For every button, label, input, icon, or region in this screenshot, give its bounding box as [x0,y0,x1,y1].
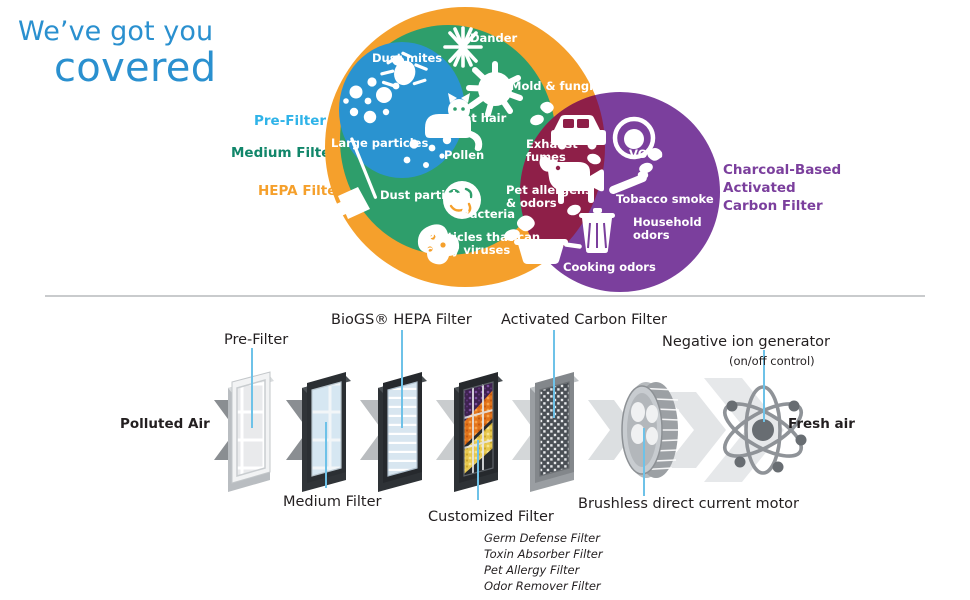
flow-output-label: Fresh air [788,416,855,432]
venn-diagram: Dust mites Large particles Dander Pet ha… [318,0,738,295]
infographic-root: We’ve got you covered Pre-Filter Medium … [0,0,970,600]
venn-label-dander: Dander [470,31,518,45]
flow-label-medium-filter: Medium Filter [283,494,382,510]
blower-wheel-icon [622,382,679,478]
legend-charcoal-filter: Charcoal-Based Activated Carbon Filter [723,162,873,215]
venn-label-tobacco-smoke: Tobacco smoke [616,192,714,206]
customized-option-odor-remover: Odor Remover Filter [484,579,601,593]
charcoal-line-3: Carbon Filter [723,198,873,216]
venn-label-viruses-2: carry viruses [426,243,510,257]
venn-label-vocs: VOCs [629,147,663,161]
venn-label-pet-allergens-1: Pet allergens [506,183,592,197]
charcoal-line-2: Activated [723,180,873,198]
venn-label-pet-hair: Pet hair [455,111,507,125]
flow-label-motor: Brushless direct current motor [578,496,799,512]
venn-label-exhaust-1: Exhaust [526,137,578,151]
customized-option-toxin-absorber: Toxin Absorber Filter [484,547,603,561]
customized-option-pet-allergy: Pet Allergy Filter [484,563,579,577]
legend-pre-filter: Pre-Filter [254,113,326,129]
flow-label-hepa-filter: BioGS® HEPA Filter [331,312,472,328]
flow-label-pre-filter: Pre-Filter [224,332,288,348]
venn-label-mold-fungi: Mold & fungi [510,79,593,93]
venn-label-dust-mites: Dust mites [372,51,442,65]
page-title: We’ve got you covered [18,18,216,88]
venn-label-household-1: Household [633,215,702,229]
section-divider [45,295,925,297]
venn-label-household-2: odors [633,228,670,242]
airflow-arrows [214,378,784,482]
flow-label-carbon-filter: Activated Carbon Filter [501,312,667,328]
venn-label-dust-particles: Dust particles [380,188,471,202]
flow-label-customized-filter: Customized Filter [428,509,554,525]
venn-label-cooking-odors: Cooking odors [563,260,656,274]
headline-line-2: covered [54,48,216,89]
venn-label-large-particles: Large particles [331,136,428,150]
venn-label-viruses-1: Particles that can [426,230,540,244]
flow-sublabel-ion-generator: (on/off control) [729,354,815,368]
headline-line-1: We’ve got you [18,18,216,46]
venn-label-exhaust-2: fumes [526,150,566,164]
venn-label-pollen: Pollen [444,148,484,162]
venn-label-pet-allergens-2: & odors [506,196,557,210]
flow-input-label: Polluted Air [120,416,210,432]
flow-label-ion-generator: Negative ion generator [662,334,830,350]
customized-option-germ-defense: Germ Defense Filter [484,531,600,545]
charcoal-line-1: Charcoal-Based [723,162,873,180]
